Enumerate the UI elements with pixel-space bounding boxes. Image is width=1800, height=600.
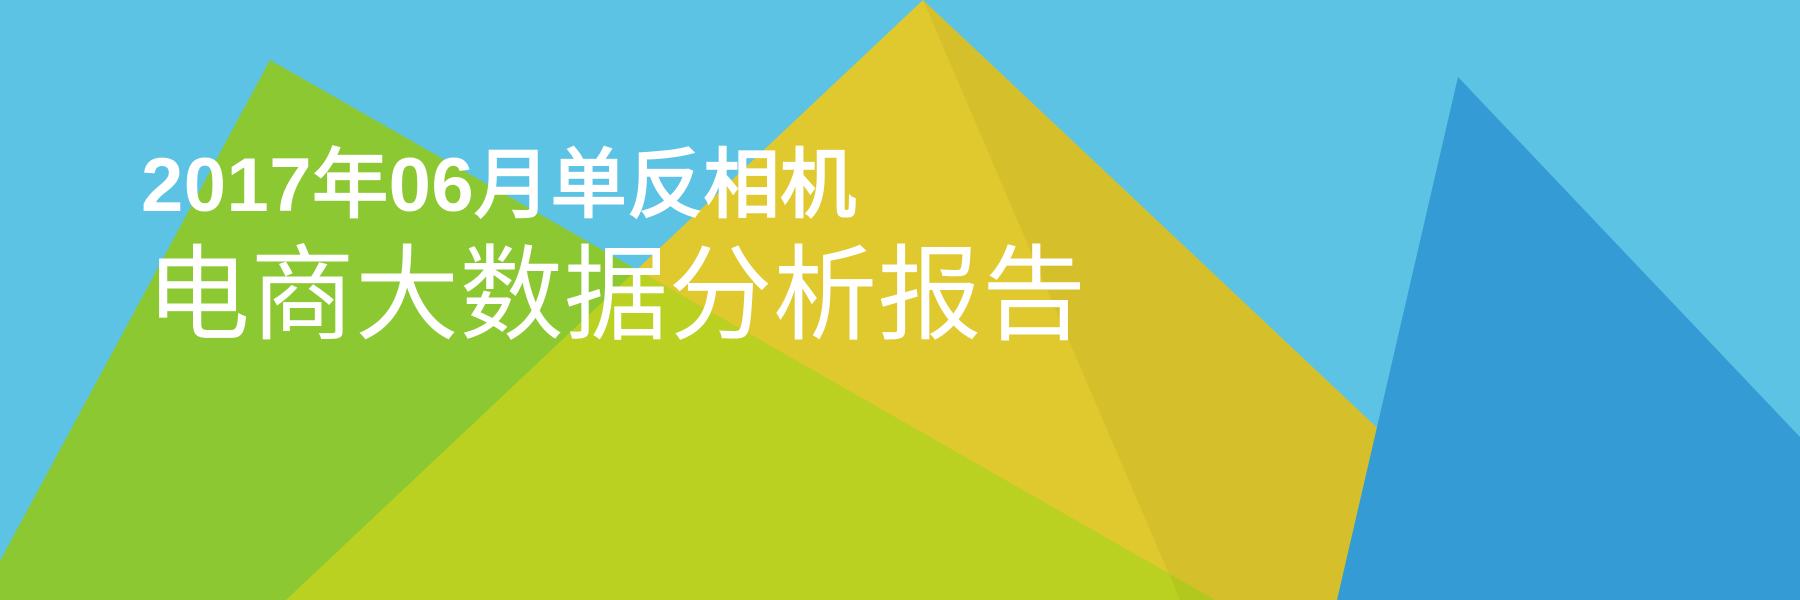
background-geometric-artwork [0, 0, 1800, 600]
report-cover-banner: 2017年06月单反相机 电商大数据分析报告 [0, 0, 1800, 600]
